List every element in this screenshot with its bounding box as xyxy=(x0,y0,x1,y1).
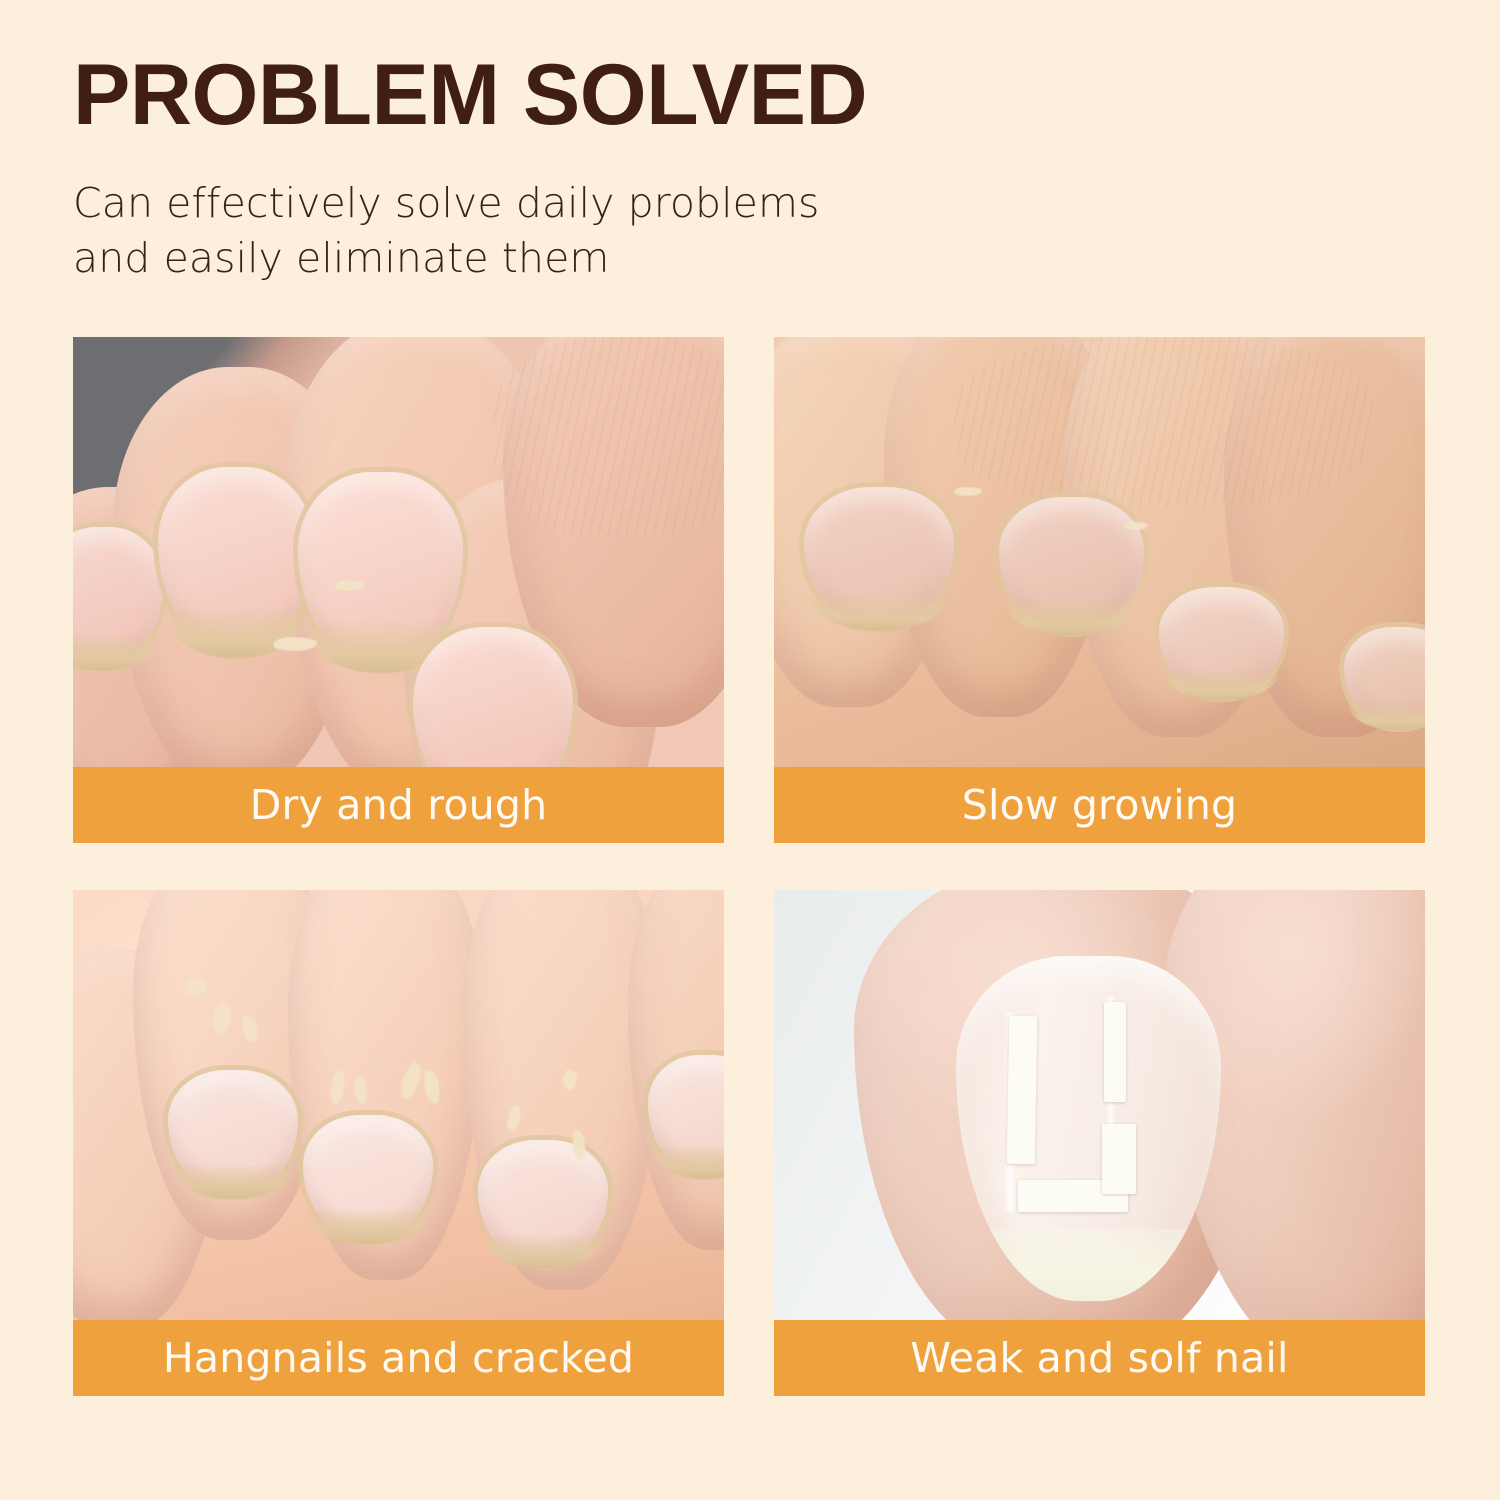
card-caption-text: Weak and solf nail xyxy=(910,1334,1288,1382)
card-caption-text: Slow growing xyxy=(962,781,1237,829)
card-caption-text: Hangnails and cracked xyxy=(163,1334,634,1382)
fingernail xyxy=(999,497,1144,632)
problem-card: Weak and solf nail xyxy=(774,890,1425,1396)
page-title: PROBLEM SOLVED xyxy=(73,52,1425,138)
card-caption-bar: Weak and solf nail xyxy=(774,1320,1425,1396)
fingernail xyxy=(168,1070,298,1195)
nail-peel-flake xyxy=(1104,1002,1126,1102)
fingernail xyxy=(648,1055,724,1175)
thumbnail xyxy=(956,956,1221,1301)
problem-card-grid: Dry and rough Slow growing xyxy=(73,337,1425,1396)
skin-texture xyxy=(493,337,724,537)
nail-peel-flake xyxy=(1007,1016,1038,1164)
fingernail xyxy=(804,487,954,627)
fingernail xyxy=(1159,587,1284,697)
fingernail xyxy=(478,1140,608,1265)
fingernail xyxy=(303,1115,433,1240)
problem-card: Slow growing xyxy=(774,337,1425,843)
header: PROBLEM SOLVED Can effectively solve dai… xyxy=(73,52,1425,287)
card-caption-bar: Slow growing xyxy=(774,767,1425,843)
problem-photo-weak-and-soft-nail xyxy=(774,890,1425,1320)
nail-peel-flake xyxy=(1102,1124,1136,1194)
card-caption-bar: Dry and rough xyxy=(73,767,724,843)
fingernail xyxy=(73,527,163,667)
problem-photo-slow-growing xyxy=(774,337,1425,767)
problem-photo-hangnails-and-cracked xyxy=(73,890,724,1320)
fingernail xyxy=(1344,627,1425,727)
page-subtitle: Can effectively solve daily problems and… xyxy=(73,176,1425,287)
skin-texture xyxy=(954,337,1374,507)
problem-photo-dry-and-rough xyxy=(73,337,724,767)
card-caption-bar: Hangnails and cracked xyxy=(73,1320,724,1396)
fingernail xyxy=(158,467,313,652)
problem-card: Hangnails and cracked xyxy=(73,890,724,1396)
card-caption-text: Dry and rough xyxy=(250,781,548,829)
fingernail xyxy=(298,472,463,667)
problem-card: Dry and rough xyxy=(73,337,724,843)
fingernail xyxy=(413,627,573,767)
